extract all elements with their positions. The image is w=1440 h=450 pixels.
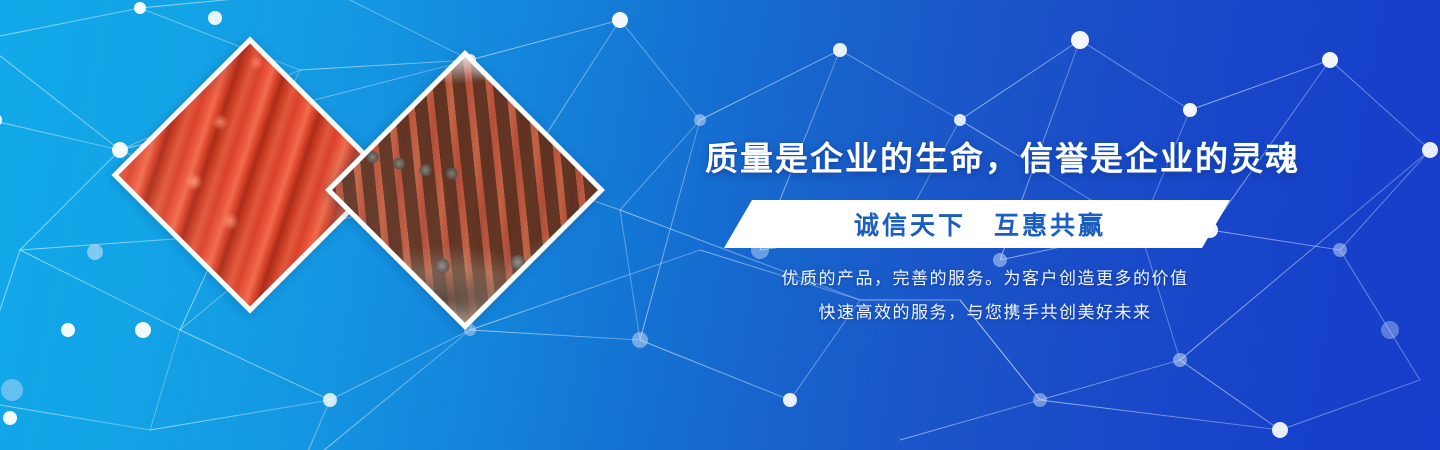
slogan-ribbon-text: 诚信天下 互惠共赢: [724, 200, 1230, 248]
subtitle-line-2: 快速高效的服务，与您携手共创美好未来: [705, 296, 1265, 330]
subtitle-line-1: 优质的产品，完善的服务。为客户创造更多的价值: [705, 262, 1265, 296]
promotional-banner: 质量是企业的生命，信誉是企业的灵魂 诚信天下 互惠共赢 优质的产品，完善的服务。…: [0, 0, 1440, 450]
banner-headline: 质量是企业的生命，信誉是企业的灵魂: [705, 132, 1265, 180]
banner-subtitle: 优质的产品，完善的服务。为客户创造更多的价值 快速高效的服务，与您携手共创美好未…: [705, 262, 1265, 330]
